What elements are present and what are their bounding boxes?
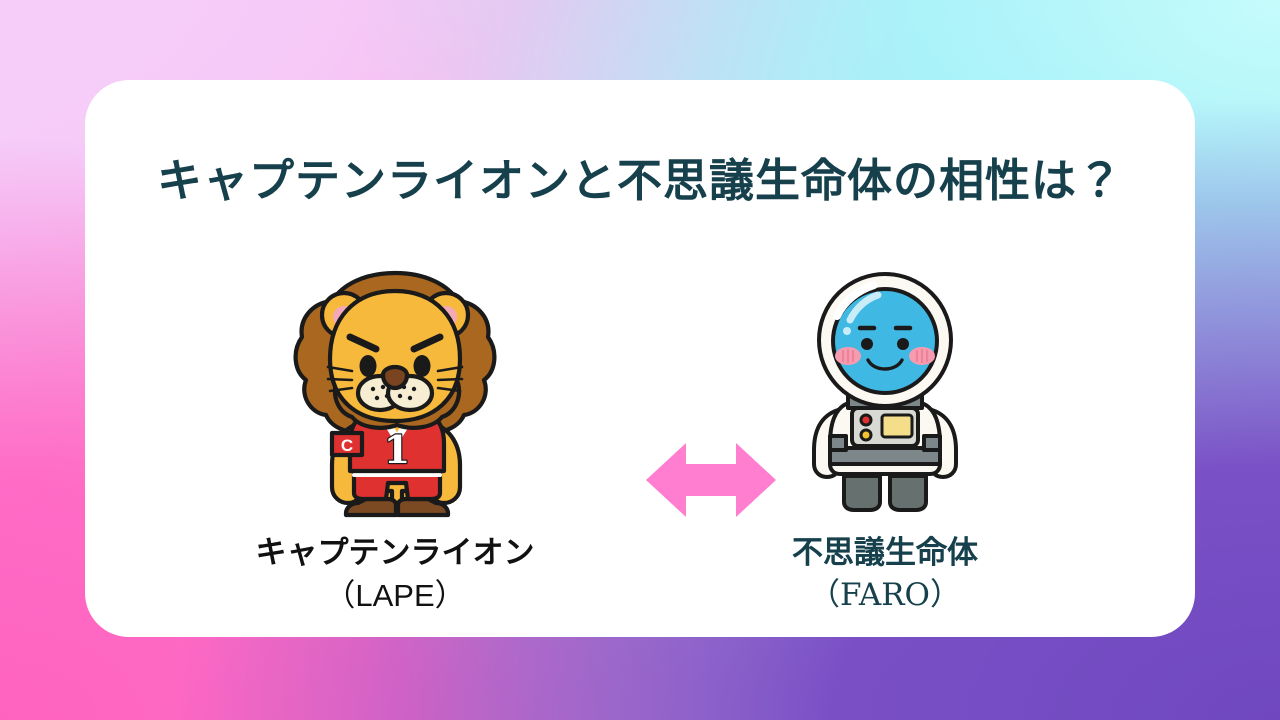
arrow-shape bbox=[646, 443, 776, 517]
slide-canvas: キャプテンライオンと不思議生命体の相性は？ bbox=[0, 0, 1280, 720]
lion-eye-right bbox=[413, 355, 430, 377]
astronaut-eye-right bbox=[897, 338, 909, 350]
caption-faro: 不思議生命体 （FARO） bbox=[675, 534, 1095, 615]
astronaut-mascot-icon bbox=[790, 268, 980, 518]
caption-lape: キャプテンライオン （LAPE） bbox=[185, 534, 605, 615]
astronaut-panel-screen bbox=[882, 415, 912, 437]
lion-armband-letter: C bbox=[340, 436, 352, 455]
astronaut-panel-button-red bbox=[861, 415, 871, 425]
figure-name-faro: 不思議生命体 bbox=[675, 534, 1095, 574]
double-headed-arrow-icon bbox=[646, 439, 776, 521]
page-title: キャプテンライオンと不思議生命体の相性は？ bbox=[85, 144, 1195, 209]
lion-eye-left bbox=[359, 355, 376, 377]
astronaut-panel-button-yellow bbox=[861, 430, 871, 440]
lion-nose bbox=[383, 367, 407, 388]
figure-code-faro: （FARO） bbox=[675, 576, 1095, 616]
astronaut-boot-left bbox=[844, 476, 880, 510]
content-card: キャプテンライオンと不思議生命体の相性は？ bbox=[85, 80, 1195, 637]
astronaut-shoulder-band-right bbox=[924, 436, 940, 450]
figure-code-lape: （LAPE） bbox=[185, 576, 605, 616]
astronaut-eye-left bbox=[861, 338, 873, 350]
lion-art-slot: 1 C bbox=[185, 258, 605, 518]
astronaut-head-highlight-dot bbox=[843, 327, 851, 335]
astronaut-boot-right bbox=[890, 476, 926, 510]
figure-name-lape: キャプテンライオン bbox=[185, 534, 605, 574]
lion-mascot-icon: 1 C bbox=[288, 263, 503, 518]
figure-faro: 不思議生命体 （FARO） bbox=[675, 258, 1095, 615]
lion-jersey-number: 1 bbox=[383, 427, 409, 472]
figure-lape: 1 C bbox=[185, 258, 605, 615]
astronaut-shoulder-band-left bbox=[830, 436, 846, 450]
